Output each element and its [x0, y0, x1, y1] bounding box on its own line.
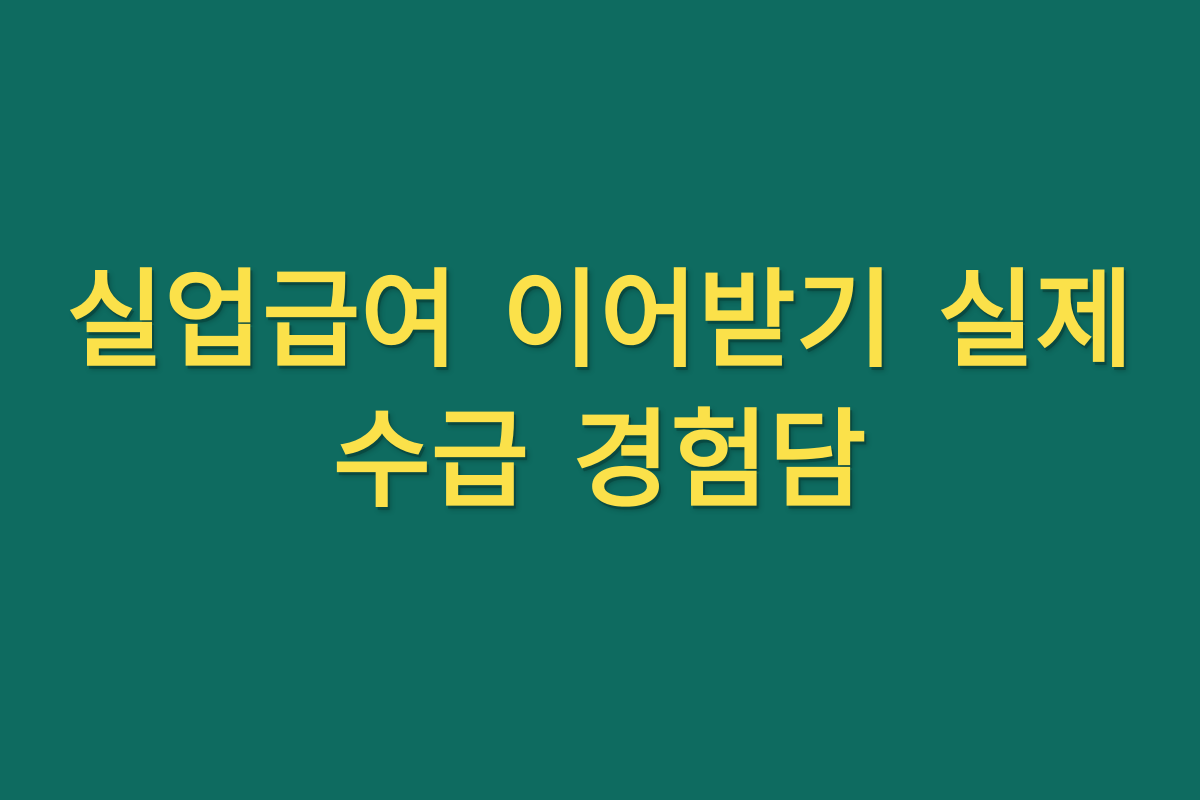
title-card: 실업급여 이어받기 실제 수급 경험담 — [0, 0, 1200, 800]
page-title: 실업급여 이어받기 실제 수급 경험담 — [50, 252, 1150, 530]
title-line-1: 실업급여 이어받기 실제 — [66, 252, 1133, 390]
title-line-2: 수급 경험담 — [333, 392, 867, 530]
